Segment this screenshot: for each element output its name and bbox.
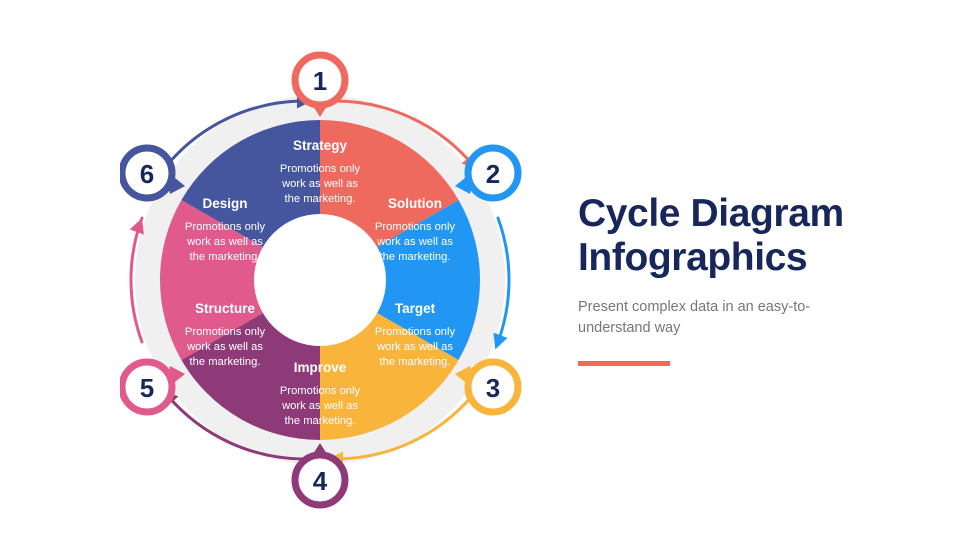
segment-body-strategy-1: Promotions only <box>280 163 361 175</box>
segment-body-structure-3: the marketing. <box>190 356 261 368</box>
segment-title-strategy: Strategy <box>293 138 348 153</box>
segment-body-target-2: work as well as <box>376 341 453 353</box>
segment-body-solution-1: Promotions only <box>375 221 456 233</box>
segment-body-structure-2: work as well as <box>186 341 263 353</box>
segment-body-solution-2: work as well as <box>376 236 453 248</box>
page-title: Cycle Diagram Infographics <box>578 192 938 279</box>
segment-body-structure-1: Promotions only <box>185 326 266 338</box>
badge-2-number: 2 <box>486 159 500 189</box>
segment-body-improve-3: the marketing. <box>285 415 356 427</box>
segment-body-target-3: the marketing. <box>380 356 451 368</box>
badge-5-number: 5 <box>140 373 154 403</box>
segment-title-target: Target <box>395 301 436 316</box>
page-subtitle: Present complex data in an easy-to-under… <box>578 297 828 339</box>
segment-body-target-1: Promotions only <box>375 326 456 338</box>
segment-title-improve: Improve <box>294 360 347 375</box>
segment-body-improve-2: work as well as <box>281 400 358 412</box>
segment-body-strategy-3: the marketing. <box>285 193 356 205</box>
segment-title-structure: Structure <box>195 301 256 316</box>
slide-canvas: Strategy Promotions only work as well as… <box>0 0 980 551</box>
segment-body-solution-3: the marketing. <box>380 251 451 263</box>
page-title-line2: Infographics <box>578 236 807 279</box>
heading-block: Cycle Diagram Infographics Present compl… <box>578 192 938 366</box>
segment-body-design-3: the marketing. <box>190 251 261 263</box>
segment-body-improve-1: Promotions only <box>280 385 361 397</box>
accent-rule <box>578 361 670 366</box>
segment-label-structure: Structure Promotions only work as well a… <box>185 301 266 368</box>
segment-title-solution: Solution <box>388 196 442 211</box>
badge-1-number: 1 <box>313 66 327 96</box>
badge-6-number: 6 <box>140 159 154 189</box>
segment-body-design-1: Promotions only <box>185 221 266 233</box>
page-title-line1: Cycle Diagram <box>578 192 844 235</box>
center-hole <box>254 214 386 346</box>
segment-body-strategy-2: work as well as <box>281 178 358 190</box>
segment-body-design-2: work as well as <box>186 236 263 248</box>
segment-title-design: Design <box>202 196 247 211</box>
badge-3-number: 3 <box>486 373 500 403</box>
badge-4-number: 4 <box>313 466 328 496</box>
